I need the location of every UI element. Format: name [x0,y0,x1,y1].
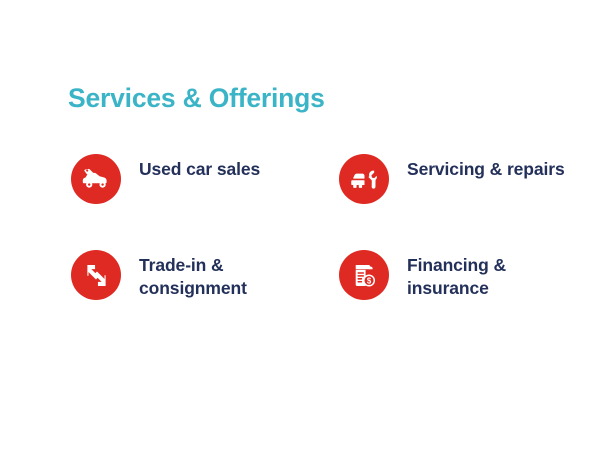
invoice-dollar-icon: $ [339,250,389,300]
services-offerings-slide: Services & Offerings Used car sales [0,0,600,450]
exchange-arrows-icon [71,250,121,300]
service-item-financing-insurance[interactable]: $ Financing & insurance [339,248,600,344]
service-label: Used car sales [139,152,260,181]
service-item-servicing-repairs[interactable]: Servicing & repairs [339,152,600,248]
car-with-price-tag-icon [71,154,121,204]
service-label: Trade-in & consignment [139,248,324,300]
service-label: Servicing & repairs [407,152,565,181]
car-with-wrench-icon [339,154,389,204]
service-item-trade-in-consignment[interactable]: Trade-in & consignment [71,248,339,344]
page-title: Services & Offerings [68,84,325,113]
service-item-used-car-sales[interactable]: Used car sales [71,152,339,248]
services-grid: Used car sales Servicing & repairs [71,152,551,344]
svg-text:$: $ [366,276,371,285]
service-label: Financing & insurance [407,248,592,300]
